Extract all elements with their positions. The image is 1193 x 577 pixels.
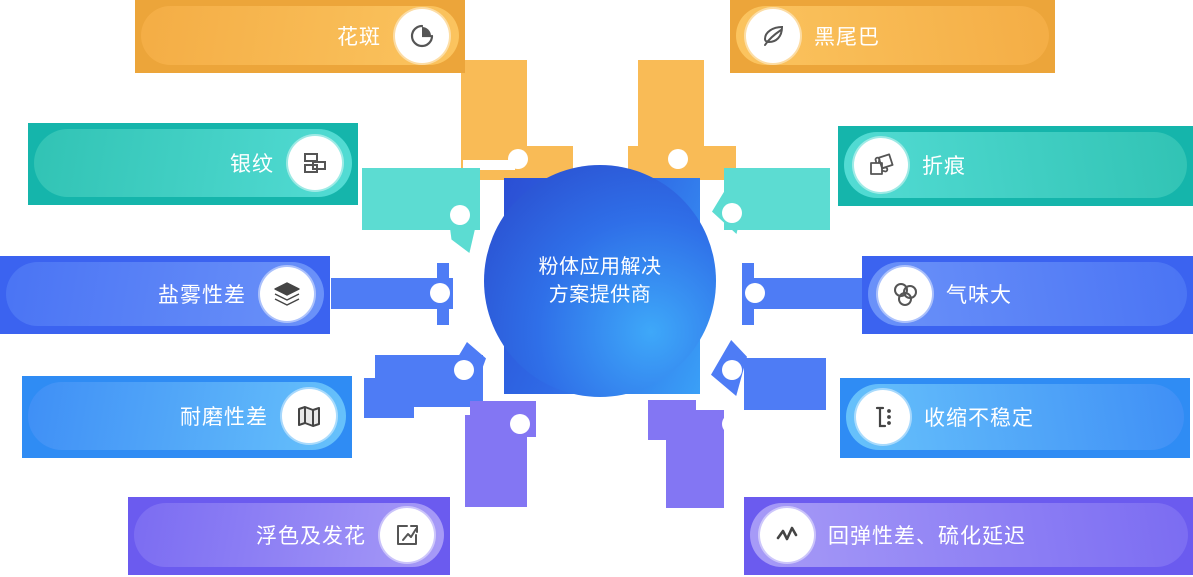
- trend-box-icon: [380, 508, 434, 562]
- connector-orange-right: [638, 60, 704, 156]
- connector-purple-right-stem: [666, 410, 724, 508]
- center-label-line1: 粉体应用解决: [539, 253, 662, 281]
- node-card-qi-wei-da[interactable]: 气味大: [862, 256, 1193, 334]
- card-label: 盐雾性差: [158, 279, 246, 309]
- card-face: 黑尾巴: [736, 6, 1049, 65]
- node-card-fu-se[interactable]: 浮色及发花: [128, 497, 450, 575]
- card-face: 回弹性差、硫化延迟: [750, 503, 1188, 567]
- card-label: 耐磨性差: [180, 401, 268, 431]
- node-card-hui-tan[interactable]: 回弹性差、硫化延迟: [744, 497, 1193, 575]
- connector-node: [722, 203, 742, 223]
- pie-chart-icon: [395, 9, 449, 63]
- line-chart-icon: [760, 508, 814, 562]
- node-card-nai-mo[interactable]: 耐磨性差: [22, 376, 352, 458]
- map-icon: [282, 389, 336, 443]
- connector-lblue-left-foot: [364, 378, 414, 418]
- card-label: 折痕: [922, 150, 966, 180]
- card-label: 黑尾巴: [814, 21, 880, 51]
- card-label: 回弹性差、硫化延迟: [828, 520, 1026, 550]
- center-label-line2: 方案提供商: [549, 281, 652, 309]
- connector-node: [430, 283, 450, 303]
- node-card-hei-wei-ba[interactable]: 黑尾巴: [730, 0, 1055, 73]
- card-face: 气味大: [868, 262, 1187, 326]
- node-card-yan-wu[interactable]: 盐雾性差: [0, 256, 330, 334]
- card-label: 花斑: [337, 21, 381, 51]
- connector-node: [745, 283, 765, 303]
- card-face: 耐磨性差: [28, 382, 346, 450]
- connector-node: [450, 205, 470, 225]
- node-card-zhe-hen[interactable]: 折痕: [838, 126, 1193, 206]
- center-label: 粉体应用解决 方案提供商: [484, 165, 716, 397]
- connector-node: [510, 414, 530, 434]
- connector-lblue-right: [744, 358, 826, 410]
- connector-node: [722, 360, 742, 380]
- connector-orange-left: [461, 60, 527, 156]
- card-label: 浮色及发花: [256, 520, 366, 550]
- node-card-hua-ban[interactable]: 花斑: [135, 0, 465, 73]
- pipette-icon: [856, 390, 910, 444]
- card-label: 银纹: [230, 148, 274, 178]
- recycle-icon: [878, 267, 932, 321]
- brick-wall-icon: [288, 136, 342, 190]
- card-label: 收缩不稳定: [924, 402, 1034, 432]
- puzzle-icon: [854, 138, 908, 192]
- layers-icon: [260, 267, 314, 321]
- card-face: 盐雾性差: [6, 262, 324, 326]
- card-label: 气味大: [946, 279, 1012, 309]
- leaf-icon: [746, 9, 800, 63]
- infographic-canvas: 粉体应用解决 方案提供商 花斑 银纹: [0, 0, 1193, 577]
- card-face: 浮色及发花: [134, 503, 444, 567]
- connector-node: [722, 414, 742, 434]
- card-face: 折痕: [844, 132, 1187, 198]
- node-card-yin-wen[interactable]: 银纹: [28, 123, 358, 205]
- card-face: 收缩不稳定: [846, 384, 1184, 450]
- connector-node: [454, 360, 474, 380]
- node-card-shou-suo[interactable]: 收缩不稳定: [840, 378, 1190, 458]
- card-face: 花斑: [141, 6, 459, 65]
- card-face: 银纹: [34, 129, 352, 197]
